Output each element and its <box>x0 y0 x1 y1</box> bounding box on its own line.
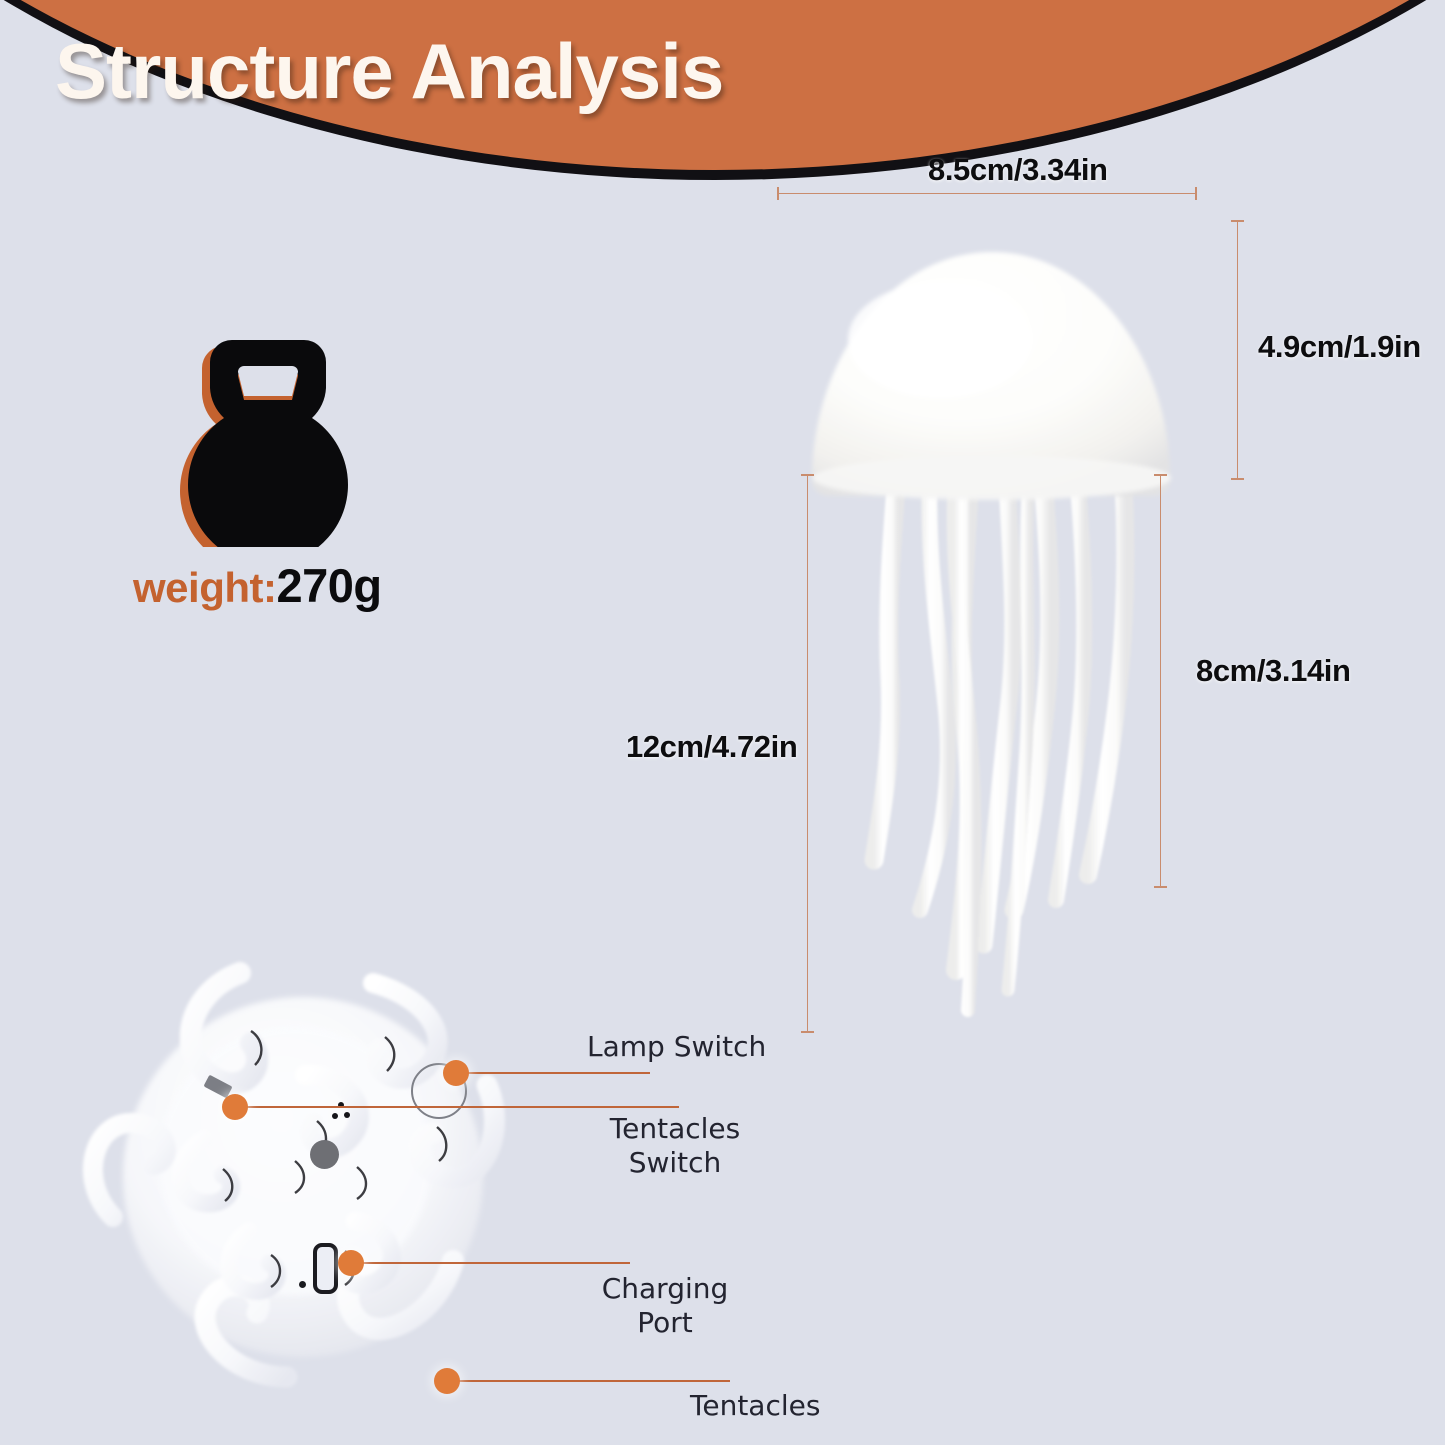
kettlebell-icon <box>170 332 365 547</box>
callout-line-lamp-switch <box>455 1072 650 1074</box>
callout-dot-lamp-switch[interactable] <box>443 1060 469 1086</box>
dimension-label-dome-height: 4.9cm/1.9in <box>1258 329 1421 365</box>
page-title: Structure Analysis <box>55 26 723 117</box>
weight-readout: weight:270g <box>133 558 382 613</box>
dimension-line-tentacle-length <box>1160 474 1161 888</box>
jellyfish-lamp-bottom-view <box>55 925 555 1425</box>
charging-port-slot[interactable] <box>313 1243 338 1294</box>
dimension-line-dome-height <box>1237 220 1238 480</box>
sensor-dot <box>310 1140 339 1169</box>
callout-label-charging-port: Charging Port <box>580 1272 750 1340</box>
weight-value: 270g <box>276 559 381 612</box>
dimension-label-tentacle-length: 8cm/3.14in <box>1196 653 1351 689</box>
infographic-canvas: Structure Analysis weight:270g <box>0 0 1445 1445</box>
micro-dot-c <box>332 1113 338 1119</box>
callout-label-lamp-switch: Lamp Switch <box>587 1030 766 1064</box>
callout-dot-charging-port[interactable] <box>338 1250 364 1276</box>
weight-label: weight: <box>133 564 276 611</box>
dimension-line-dome-width <box>777 193 1197 194</box>
callout-line-charging-port <box>350 1262 630 1264</box>
jellyfish-lamp-side-view <box>770 210 1210 1040</box>
dimension-label-dome-width: 8.5cm/3.34in <box>928 152 1108 188</box>
indicator-dot <box>299 1281 306 1288</box>
dimension-label-total-height: 12cm/4.72in <box>626 729 797 765</box>
dimension-line-total-height <box>807 474 808 1033</box>
micro-dot-b <box>344 1112 350 1118</box>
callout-dot-tentacles-switch[interactable] <box>222 1094 248 1120</box>
callout-dot-tentacles[interactable] <box>434 1368 460 1394</box>
callout-label-tentacles-switch: Tentacles Switch <box>590 1112 760 1180</box>
callout-line-tentacles <box>450 1380 730 1382</box>
callout-line-tentacles-switch <box>232 1106 679 1108</box>
callout-label-tentacles: Tentacles <box>690 1389 820 1423</box>
